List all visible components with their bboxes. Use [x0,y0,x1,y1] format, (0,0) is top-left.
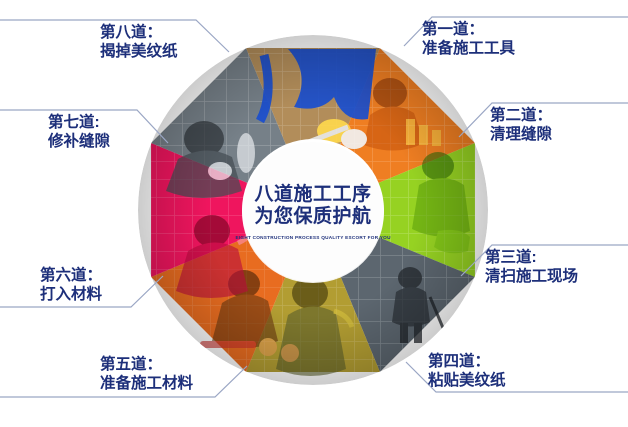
label-step-8-order: 第八道： [100,23,178,42]
label-step-6-name: 打入材料 [40,285,102,304]
label-step-3-name: 清扫施工现场 [485,267,578,286]
label-step-3-order: 第三道: [485,248,578,267]
label-step-3[interactable]: 第三道: 清扫施工现场 [485,248,578,287]
label-step-1-name: 准备施工工具 [422,39,515,58]
label-step-8[interactable]: 第八道： 揭掉美纹纸 [100,23,178,62]
label-step-6[interactable]: 第六道： 打入材料 [40,266,102,305]
label-step-1-order: 第一道： [422,20,515,39]
label-step-7[interactable]: 第七道: 修补缝隙 [48,113,110,152]
center-title-line1: 八道施工工序 [254,184,371,206]
center-subtitle: EIGHT CONSTRUCTION PROCESS QUALITY ESCOR… [235,235,390,240]
label-step-6-order: 第六道： [40,266,102,285]
label-step-4-order: 第四道： [428,352,506,371]
label-step-1[interactable]: 第一道： 准备施工工具 [422,20,515,59]
label-step-2-name: 清理缝隙 [490,125,552,144]
label-step-7-order: 第七道: [48,113,110,132]
label-step-2[interactable]: 第二道： 清理缝隙 [490,106,552,145]
label-step-2-order: 第二道： [490,106,552,125]
label-step-4-name: 粘贴美纹纸 [428,371,506,390]
label-step-5-name: 准备施工材料 [100,374,193,393]
label-step-5[interactable]: 第五道： 准备施工材料 [100,355,193,394]
infographic-canvas: 八道施工工序 为您保质护航 EIGHT CONSTRUCTION PROCESS… [0,0,628,427]
label-step-8-name: 揭掉美纹纸 [100,42,178,61]
center-title-line2: 为您保质护航 [254,206,371,228]
label-step-5-order: 第五道： [100,355,193,374]
center-hub: 八道施工工序 为您保质护航 EIGHT CONSTRUCTION PROCESS… [243,142,383,282]
label-step-7-name: 修补缝隙 [48,132,110,151]
label-step-4[interactable]: 第四道： 粘贴美纹纸 [428,352,506,391]
